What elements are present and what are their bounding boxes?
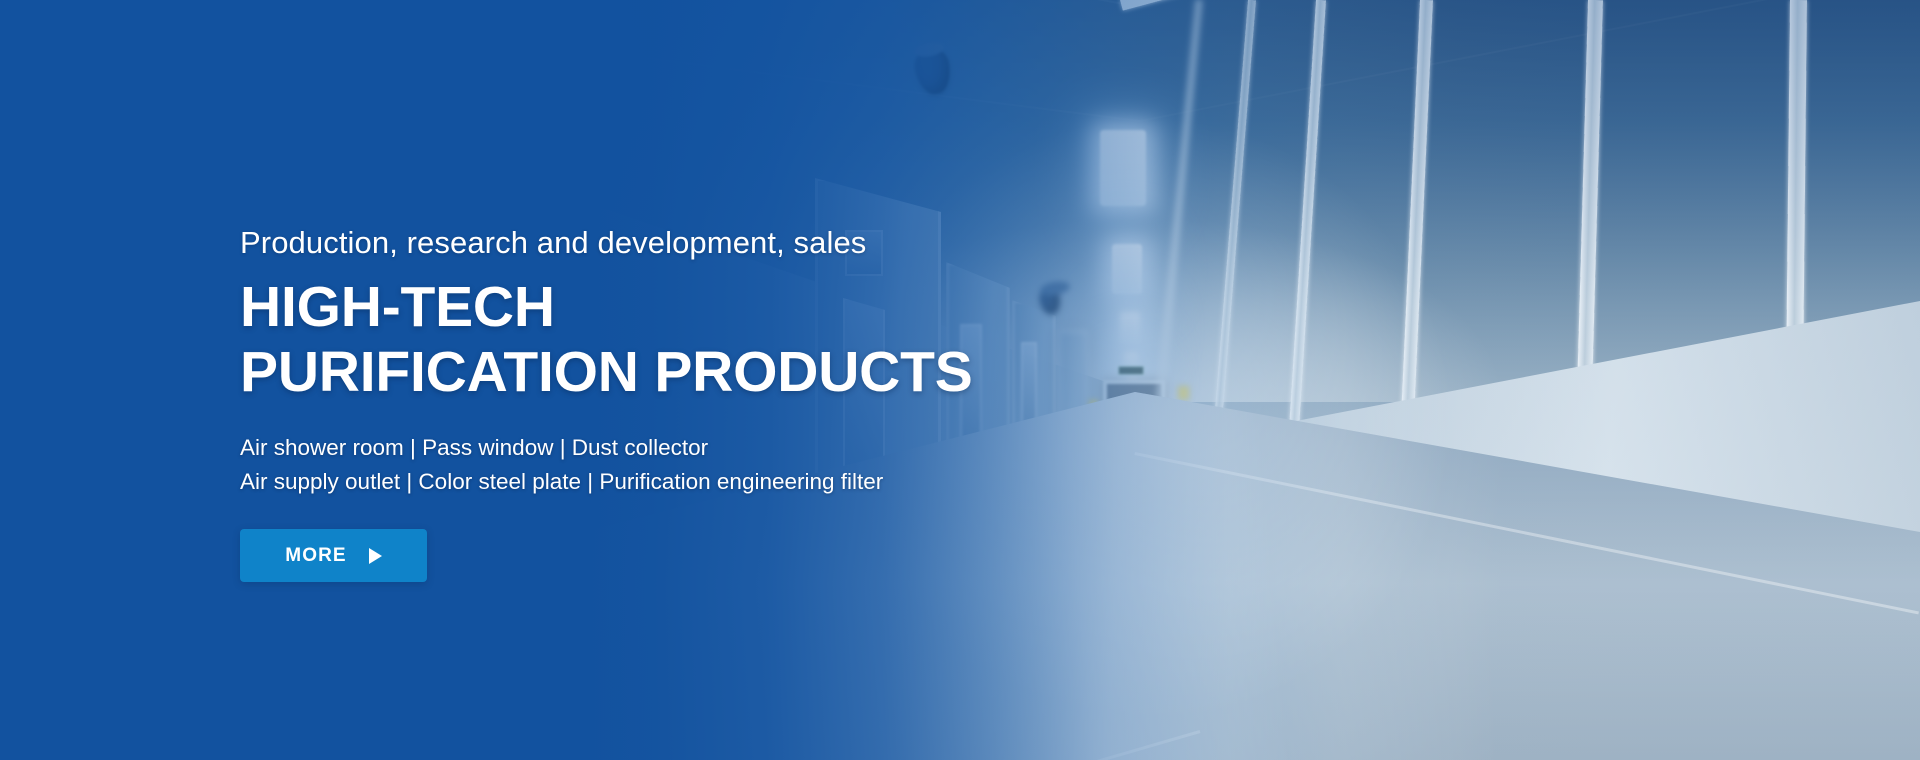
ceiling-light (1100, 130, 1146, 206)
headline-line-2: PURIFICATION PRODUCTS (240, 340, 1290, 404)
hero-banner: Production, research and development, sa… (0, 0, 1920, 760)
more-button-label: MORE (285, 545, 346, 567)
eyebrow-text: Production, research and development, sa… (240, 224, 1290, 261)
product-list: Air shower room | Pass window | Dust col… (240, 431, 1290, 499)
page-title: HIGH-TECH PURIFICATION PRODUCTS (240, 275, 1290, 404)
headline-line-1: HIGH-TECH (240, 275, 1290, 339)
product-list-line-2: Air supply outlet | Color steel plate | … (240, 465, 1290, 499)
product-list-line-1: Air shower room | Pass window | Dust col… (240, 431, 1290, 465)
more-button[interactable]: MORE (240, 529, 427, 582)
hero-content: Production, research and development, sa… (240, 224, 1290, 582)
play-triangle-icon (369, 548, 382, 564)
